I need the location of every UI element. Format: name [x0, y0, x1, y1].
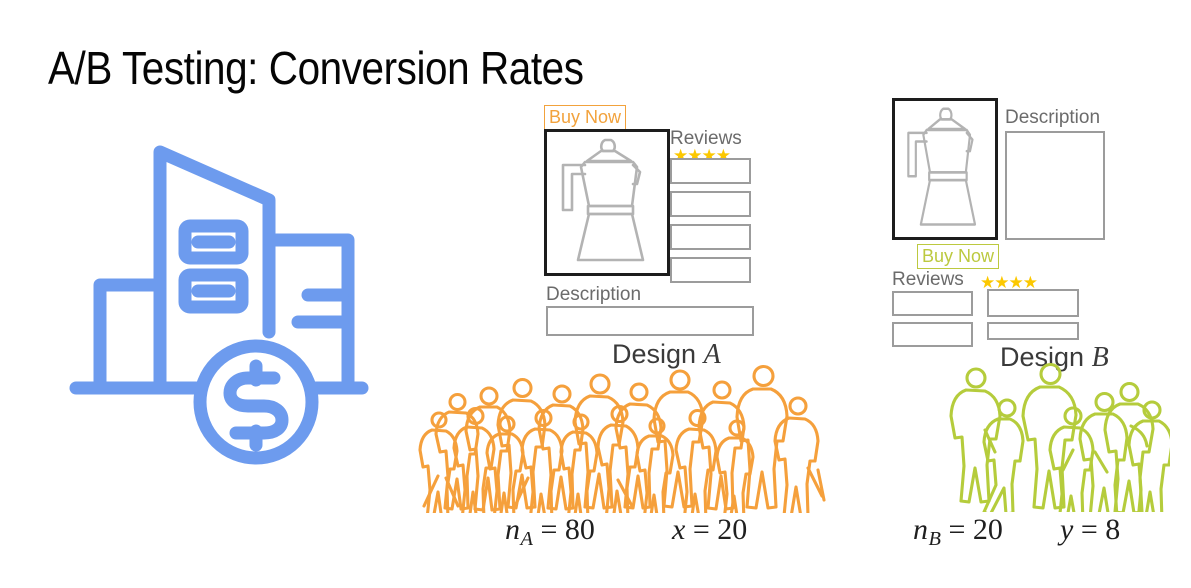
product-image-frame-a — [544, 129, 670, 276]
review-box[interactable] — [892, 291, 973, 316]
product-image-frame-b — [892, 98, 998, 240]
buy-now-button-b[interactable]: Buy Now — [917, 244, 999, 269]
review-box[interactable] — [987, 322, 1079, 340]
stat-n-a-eq: = — [540, 513, 557, 546]
stat-n-b-eq: = — [948, 513, 965, 546]
stat-n-b-subscript: B — [929, 528, 941, 550]
stat-y-value: 8 — [1105, 513, 1120, 546]
stat-n-a-value: 80 — [565, 513, 595, 546]
stat-x-value: 20 — [717, 513, 747, 546]
review-boxes-a — [670, 158, 751, 290]
review-box[interactable] — [670, 158, 751, 184]
page-title: A/B Testing: Conversion Rates — [48, 44, 584, 92]
stat-x-symbol: x — [672, 513, 685, 546]
description-label-a: Description — [546, 285, 641, 304]
design-b-mockup: Description Buy Now Reviews ★★★★ Design … — [892, 98, 1117, 343]
review-box[interactable] — [987, 289, 1079, 317]
stat-x-eq: = — [693, 513, 710, 546]
review-box[interactable] — [892, 322, 973, 347]
stat-n-a-symbol: n — [505, 513, 520, 546]
building-dollar-icon — [60, 130, 390, 470]
design-a-mockup: Buy Now Reviews ★★★★ — [540, 105, 770, 340]
moka-pot-icon — [895, 101, 995, 237]
stat-n-a-subscript: A — [521, 528, 533, 550]
stat-y-eq: = — [1081, 513, 1098, 546]
stat-n-a: nA = 80 — [505, 515, 595, 549]
stat-n-b-symbol: n — [913, 513, 928, 546]
stat-y: y = 8 — [1060, 515, 1120, 545]
moka-pot-icon — [547, 132, 667, 273]
stat-y-symbol: y — [1060, 513, 1073, 546]
stat-n-b-value: 20 — [973, 513, 1003, 546]
review-box[interactable] — [670, 191, 751, 217]
buy-now-button-a[interactable]: Buy Now — [544, 105, 626, 130]
description-label-b: Description — [1005, 108, 1100, 127]
description-box-a[interactable] — [546, 306, 754, 336]
stat-x: x = 20 — [672, 515, 747, 545]
review-box[interactable] — [670, 224, 751, 250]
crowd-people-icon-b — [945, 360, 1170, 512]
crowd-people-icon-a — [418, 358, 838, 513]
stat-n-b: nB = 20 — [913, 515, 1003, 549]
reviews-label-b: Reviews — [892, 270, 964, 289]
review-box[interactable] — [670, 257, 751, 283]
description-box-b[interactable] — [1005, 131, 1105, 240]
